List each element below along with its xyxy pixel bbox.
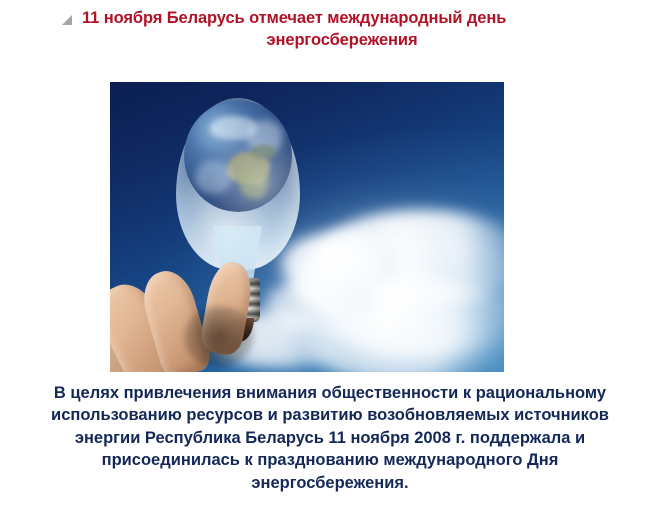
title-text: 11 ноября Беларусь отмечает международны… (82, 8, 602, 52)
collapse-triangle-icon[interactable] (62, 15, 73, 26)
lightbulb-earth-photo[interactable] (110, 82, 504, 372)
hand (110, 244, 340, 372)
body-paragraph: В целях привлечения внимания общественно… (22, 382, 638, 494)
hand-shadow (184, 306, 254, 368)
body-text: В целях привлечения внимания общественно… (22, 382, 638, 494)
presentation-slide: 11 ноября Беларусь отмечает международны… (0, 0, 660, 512)
earth-globe (184, 100, 292, 212)
title-line-2: энергосбережения (82, 30, 602, 52)
slide-title: 11 ноября Беларусь отмечает международны… (62, 8, 602, 52)
title-line-1: 11 ноября Беларусь отмечает международны… (82, 8, 602, 30)
title-row: 11 ноября Беларусь отмечает международны… (62, 8, 602, 52)
sky-background (110, 82, 504, 372)
